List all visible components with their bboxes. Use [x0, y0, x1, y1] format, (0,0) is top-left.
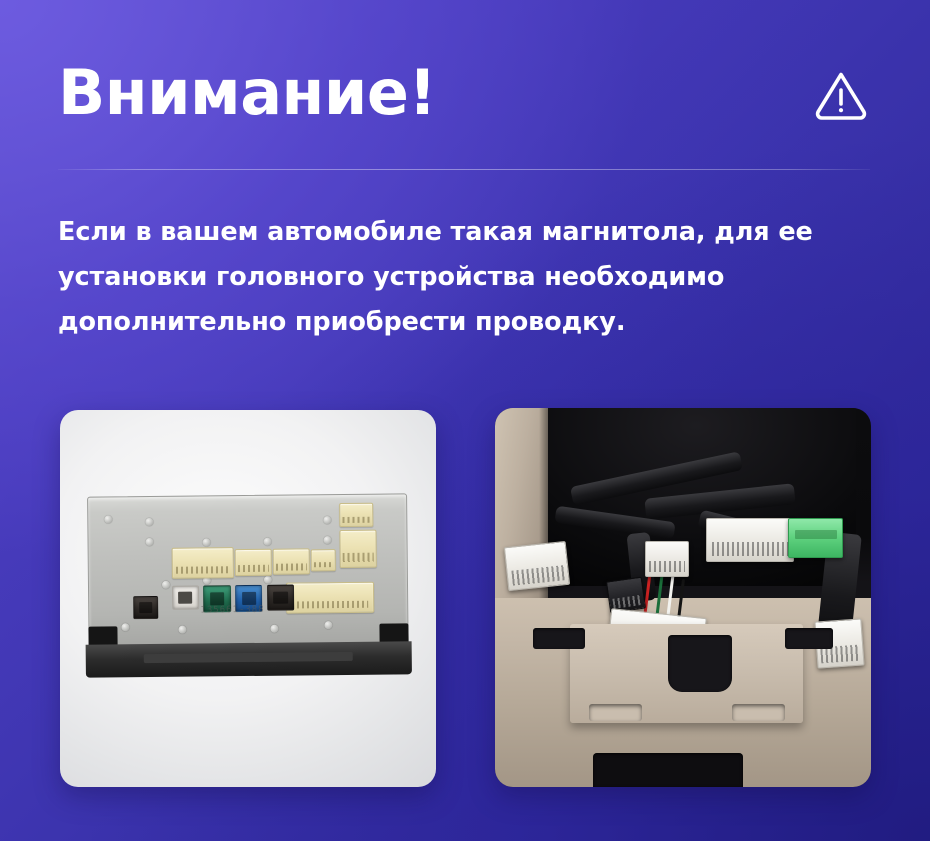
screw — [162, 581, 170, 589]
screw — [271, 624, 279, 632]
page-title: Внимание! — [58, 56, 436, 130]
screw — [146, 537, 154, 545]
warning-banner-page: Внимание! Если в вашем автомобиле такая … — [0, 0, 930, 841]
plug-white-small-mid — [645, 541, 688, 577]
wiring-harness-photo — [495, 408, 871, 787]
head-unit-rear-photo: 135661-388 — [60, 410, 436, 787]
screw — [179, 625, 187, 633]
banner-header: Внимание! — [58, 56, 870, 138]
plug-white-small-left — [504, 541, 570, 591]
screw — [146, 518, 154, 526]
connector-cream — [273, 548, 310, 574]
dash-lower-opening — [593, 753, 743, 787]
connector-cream — [171, 547, 234, 578]
dash-mount-slot-right — [732, 704, 785, 721]
dash-center-cutout — [668, 635, 732, 692]
head-unit-metal-face: 135661-388 — [87, 493, 408, 648]
connector-cream — [286, 581, 374, 612]
plug-white-large-top — [706, 518, 794, 562]
head-unit-body: 135661-388 — [87, 493, 408, 677]
screw — [323, 516, 331, 524]
dash-mount-slot-left — [589, 704, 642, 721]
chassis-bottom-rail — [86, 641, 412, 677]
screw — [263, 538, 271, 546]
screw — [264, 575, 272, 583]
jack-black — [134, 596, 158, 619]
part-number-stamp: 135661-388 — [201, 604, 265, 615]
plug-green — [788, 518, 843, 558]
connector-cream — [311, 549, 335, 571]
connector-cream — [339, 502, 373, 527]
screw — [203, 538, 211, 546]
connector-cream — [339, 529, 376, 567]
dash-vent-slot-right — [785, 628, 834, 649]
jack-black — [267, 584, 295, 610]
screw — [121, 623, 129, 631]
header-divider — [58, 169, 870, 170]
screw — [325, 621, 333, 629]
jack-grey — [172, 585, 200, 610]
screw — [324, 535, 332, 543]
warning-triangle-icon — [812, 66, 870, 124]
dash-vent-slot-left — [533, 628, 586, 649]
connector-cream — [235, 548, 272, 576]
head-unit-photo-content: 135661-388 — [60, 410, 436, 787]
screw — [104, 515, 112, 523]
wiring-harness-photo-content — [495, 408, 871, 787]
banner-body-text: Если в вашем автомобиле такая магнитола,… — [58, 210, 876, 345]
